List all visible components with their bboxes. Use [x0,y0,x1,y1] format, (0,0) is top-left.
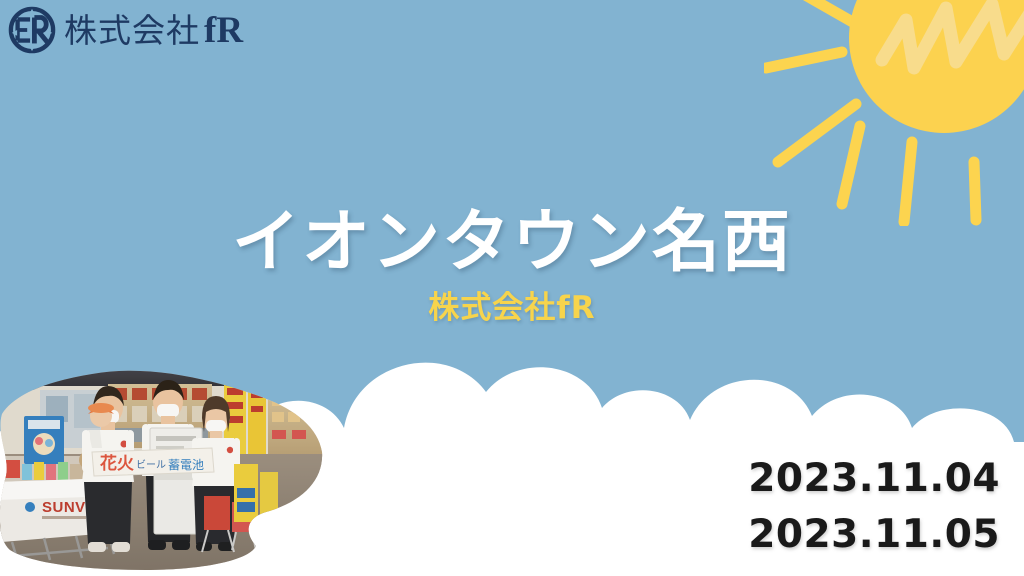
event-date-first: 2023.11.04 [748,451,1000,506]
title-block: イオンタウン名西 株式会社fR [0,206,1024,326]
brand-name: 株式会社fR [64,12,243,49]
event-photo: SUNVISTA [0,356,326,576]
event-dates: 2023.11.04 2023.11.05 [748,451,1000,562]
brand-logo: 株式会社fR [8,6,243,54]
fr-circular-monogram-icon [8,6,56,54]
sun-decoration [764,0,1024,226]
sun-body [849,0,1024,133]
brand-company-name: 株式会社 [64,14,200,50]
page-title: イオンタウン名西 [0,206,1024,279]
event-photo-image: SUNVISTA [0,356,326,576]
sun-icon [764,0,1024,226]
page-subtitle: 株式会社fR [0,291,1024,325]
presentation-slide: SUNVISTA [0,0,1024,576]
brand-mark-fr: fR [204,10,243,51]
event-date-second: 2023.11.05 [748,507,1000,562]
sun-scribble [882,4,1024,68]
